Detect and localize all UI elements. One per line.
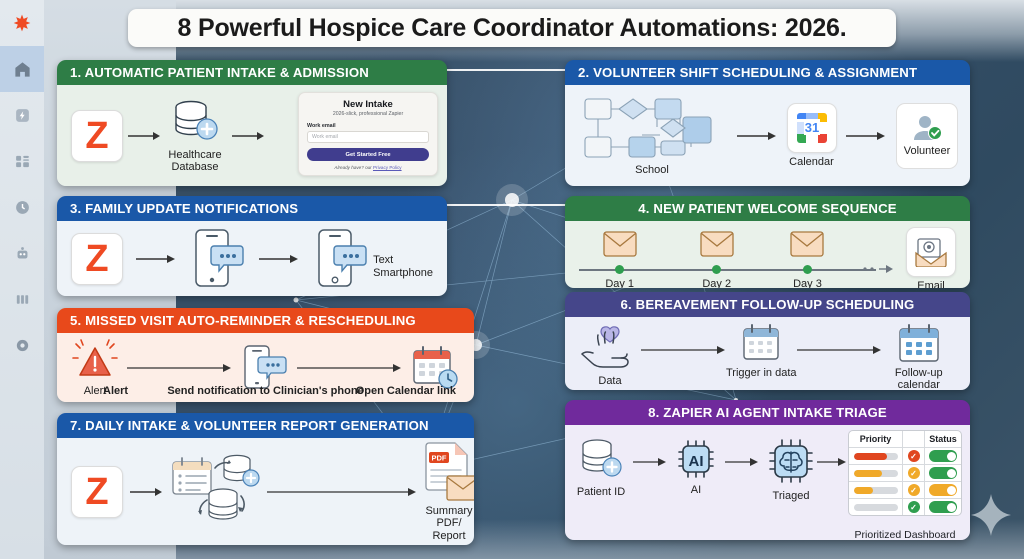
arrow-1 xyxy=(727,131,787,141)
google-calendar-icon: 31 xyxy=(787,103,837,153)
card-7-body: Z xyxy=(57,438,474,545)
calendar-clock-icon xyxy=(410,345,460,391)
calendar-day-badge: 31 xyxy=(804,120,818,135)
priority-bar xyxy=(854,453,898,460)
status-check-icon: ✓ xyxy=(908,484,920,496)
timeline-arrow-icon xyxy=(862,263,896,275)
step-label: Volunteer xyxy=(904,145,950,157)
card-3-header: 3. FAMILY UPDATE NOTIFICATIONS xyxy=(57,196,447,221)
sidebar-item-logo[interactable] xyxy=(0,0,44,46)
arrow-1 xyxy=(123,131,167,141)
clock-icon xyxy=(14,199,31,216)
hand-heart-icon xyxy=(579,323,641,373)
form-footer-mid: our xyxy=(365,165,372,170)
status-toggle[interactable] xyxy=(929,467,957,479)
form-title: New Intake xyxy=(307,99,429,110)
sidebar-item-interfaces[interactable] xyxy=(0,184,44,230)
column-header-status: Status xyxy=(929,434,957,444)
step-followup-calendar: Follow-up calendar or CRM system xyxy=(882,323,956,390)
step-healthcare-database: Healthcare Database xyxy=(167,98,223,174)
timeline-item-2 xyxy=(700,231,734,257)
page-title: 8 Powerful Hospice Care Coordinator Auto… xyxy=(178,14,847,43)
priority-bar xyxy=(854,504,898,511)
svg-text:PDF: PDF xyxy=(432,454,447,463)
calendar-blue-icon xyxy=(897,323,941,363)
card-6-header: 6. BEREAVEMENT FOLLOW-UP SCHEDULING xyxy=(565,292,970,317)
ai-chip-icon: AI xyxy=(673,437,719,481)
brain-chip-icon xyxy=(765,437,817,487)
step-school-flowchart: School xyxy=(577,95,727,176)
card-automatic-patient-intake[interactable]: 1. AUTOMATIC PATIENT INTAKE & ADMISSION … xyxy=(57,60,447,186)
arrow-2 xyxy=(267,487,417,497)
robot-icon xyxy=(14,245,31,262)
step-label: Email xyxy=(917,280,945,288)
alert-triangle-icon xyxy=(71,338,119,382)
step-patient-id: Patient ID xyxy=(575,437,627,498)
step-label: Summary PDF/ Report xyxy=(417,505,474,542)
sidebar-item-chatbots[interactable] xyxy=(0,230,44,276)
step-triaged: Triaged xyxy=(765,437,817,502)
timeline-node-1 xyxy=(615,265,624,274)
step-label: Data xyxy=(598,375,621,387)
prioritized-dashboard[interactable]: Priority Status ✓ ✓ ✓ ✓ xyxy=(848,430,962,516)
page-title-pill: 8 Powerful Hospice Care Coordinator Auto… xyxy=(128,9,896,47)
zapier-logo-icon: Z xyxy=(71,233,123,285)
form-footer-pre: Already have? xyxy=(334,165,363,170)
status-toggle[interactable] xyxy=(929,450,957,462)
timeline-item-3 xyxy=(790,231,824,257)
welcome-timeline: Day 1 Welcome Day 2 Day 3 Guide xyxy=(579,227,892,284)
zapier-logo-icon: Z xyxy=(71,110,123,162)
card-4-header: 4. NEW PATIENT WELCOME SEQUENCE xyxy=(565,196,970,221)
arrow-2 xyxy=(719,457,765,467)
step-label-calendar: Open Calendar link xyxy=(356,385,456,397)
form-subtitle: 2026-slick, professional Zapier xyxy=(307,111,429,117)
card-missed-visit-auto-reminder[interactable]: 5. MISSED VISIT AUTO-REMINDER & RESCHEDU… xyxy=(57,308,474,402)
card-8-body: Patient ID AI AI xyxy=(565,425,970,540)
table-row[interactable]: ✓ xyxy=(849,482,961,499)
step-text-smartphone: Text Smartphone xyxy=(311,228,433,290)
step-label-alert: Alert xyxy=(103,385,128,397)
step-label: AI xyxy=(691,484,701,496)
card-4-body: Day 1 Welcome Day 2 Day 3 Guide Email xyxy=(565,221,970,288)
sidebar-item-zaps[interactable] xyxy=(0,92,44,138)
step-label: Follow-up calendar or CRM system xyxy=(882,367,956,390)
card-5-header: 5. MISSED VISIT AUTO-REMINDER & RESCHEDU… xyxy=(57,308,474,333)
table-icon xyxy=(14,153,31,170)
arrow-1 xyxy=(123,254,188,264)
envelope-icon xyxy=(700,231,734,257)
step-zapier: Z xyxy=(71,466,123,518)
arrow-2 xyxy=(223,131,275,141)
status-check-icon: ✓ xyxy=(908,501,920,513)
step-label: School xyxy=(635,164,669,176)
status-toggle[interactable] xyxy=(929,484,957,496)
gear-icon xyxy=(14,337,31,354)
card-2-header: 2. VOLUNTEER SHIFT SCHEDULING & ASSIGNME… xyxy=(565,60,970,85)
priority-bar xyxy=(854,470,898,477)
sidebar-item-canvas[interactable] xyxy=(0,276,44,322)
card-8-header: 8. ZAPIER AI AGENT INTAKE TRIAGE xyxy=(565,400,970,425)
work-email-input[interactable]: Work email xyxy=(307,131,429,143)
step-label: Calendar xyxy=(789,156,834,168)
sparkle-icon xyxy=(968,492,1014,538)
app-sidebar[interactable] xyxy=(0,0,44,559)
canvas-icon xyxy=(14,291,31,308)
volunteer-person-icon xyxy=(910,114,944,144)
column-header-priority: Priority xyxy=(860,434,892,444)
step-calendar-link xyxy=(410,345,460,391)
zapier-flower-icon xyxy=(12,13,32,33)
step-label: Text Smartphone xyxy=(373,254,433,279)
timeline-label-2: Day 2 xyxy=(702,278,731,288)
arrow-1 xyxy=(119,363,240,373)
sidebar-item-tables[interactable] xyxy=(0,138,44,184)
arrow-1 xyxy=(641,345,726,355)
envelope-icon xyxy=(790,231,824,257)
table-row[interactable]: ✓ xyxy=(849,499,961,515)
card-new-patient-welcome-sequence[interactable]: 4. NEW PATIENT WELCOME SEQUENCE xyxy=(565,196,970,288)
table-row[interactable]: ✓ xyxy=(849,465,961,482)
pdf-email-icon: PDF xyxy=(417,441,474,503)
calendar-icon xyxy=(741,323,781,361)
arrow-2 xyxy=(837,131,897,141)
email-open-icon xyxy=(906,227,956,277)
card-2-body: School 31 xyxy=(565,85,970,186)
zapier-logo-icon: Z xyxy=(71,466,123,518)
step-calendar-database-sync xyxy=(171,450,267,534)
step-label: Trigger in data xyxy=(726,367,797,379)
database-plus-icon xyxy=(575,437,627,483)
arrow-3 xyxy=(817,457,847,467)
home-icon xyxy=(13,60,32,79)
status-check-icon: ✓ xyxy=(908,467,920,479)
timeline-node-2 xyxy=(712,265,721,274)
step-zapier: Z xyxy=(71,233,123,285)
step-summary-pdf-report: PDF Summary PDF/ Report xyxy=(417,441,474,542)
timeline-item-1 xyxy=(603,231,637,257)
form-field-label: Work email xyxy=(307,123,429,129)
card-1-header: 1. AUTOMATIC PATIENT INTAKE & ADMISSION xyxy=(57,60,447,85)
status-toggle[interactable] xyxy=(929,501,957,513)
phone-message-icon xyxy=(311,228,369,290)
card-1-body: Z Healthcare Database xyxy=(57,85,447,186)
new-intake-form[interactable]: New Intake 2026-slick, professional Zapi… xyxy=(298,92,438,176)
sidebar-item-settings[interactable] xyxy=(0,322,44,368)
envelope-icon xyxy=(603,231,637,257)
arrow-1 xyxy=(627,457,673,467)
step-label: Healthcare Database xyxy=(168,149,221,174)
status-check-icon: ✓ xyxy=(908,450,920,462)
card-zapier-ai-agent-intake-triage[interactable]: 8. ZAPIER AI AGENT INTAKE TRIAGE Patient… xyxy=(565,400,970,540)
privacy-policy-link[interactable]: Privacy Policy xyxy=(373,165,402,170)
database-plus-icon xyxy=(167,98,223,146)
dashboard-caption: Prioritized Dashboard xyxy=(848,529,962,540)
card-family-update-notifications[interactable]: 3. FAMILY UPDATE NOTIFICATIONS Z xyxy=(57,196,447,296)
arrow-1 xyxy=(123,487,171,497)
bolt-icon xyxy=(14,107,31,124)
flowchart-icon xyxy=(577,95,727,161)
priority-bar xyxy=(854,487,898,494)
card-3-body: Z xyxy=(57,221,447,296)
dashboard-header-row: Priority Status xyxy=(849,431,961,448)
step-ai: AI AI xyxy=(673,437,719,496)
step-label-notification: Send notification to Clinician's phone xyxy=(167,385,363,397)
form-footer: Already have? our Privacy Policy xyxy=(307,165,429,170)
card-daily-intake-volunteer-report[interactable]: 7. DAILY INTAKE & VOLUNTEER REPORT GENER… xyxy=(57,413,474,545)
sidebar-item-home[interactable] xyxy=(0,46,44,92)
timeline-label-3: Day 3 Guide xyxy=(793,278,822,288)
step-data: Data xyxy=(579,323,641,387)
calendar-database-sync-icon xyxy=(171,450,267,534)
step-label: Patient ID xyxy=(577,486,625,498)
arrow-2 xyxy=(246,254,311,264)
step-phone-message-1 xyxy=(188,228,246,290)
card-volunteer-shift-scheduling[interactable]: 2. VOLUNTEER SHIFT SCHEDULING & ASSIGNME… xyxy=(565,60,970,186)
phone-message-icon xyxy=(188,228,246,290)
step-label: Triaged xyxy=(773,490,810,502)
step-trigger-in-data: Trigger in data xyxy=(726,323,797,379)
card-6-body: Data Trigger in data xyxy=(565,317,970,390)
step-zapier: Z xyxy=(71,110,123,162)
arrow-2 xyxy=(797,345,882,355)
timeline-node-3 xyxy=(803,265,812,274)
card-bereavement-follow-up[interactable]: 6. BEREAVEMENT FOLLOW-UP SCHEDULING Data xyxy=(565,292,970,390)
step-volunteer: Volunteer xyxy=(896,103,958,169)
ai-badge: AI xyxy=(689,453,704,470)
step-email: Email xyxy=(906,227,956,288)
timeline-label-1: Day 1 Welcome xyxy=(597,278,643,288)
table-row[interactable]: ✓ xyxy=(849,448,961,465)
arrow-2 xyxy=(290,363,411,373)
card-7-header: 7. DAILY INTAKE & VOLUNTEER REPORT GENER… xyxy=(57,413,474,438)
card-5-body: Alert xyxy=(57,333,474,402)
step-google-calendar: 31 Calendar xyxy=(787,103,837,168)
get-started-free-button[interactable]: Get Started Free xyxy=(307,148,429,161)
